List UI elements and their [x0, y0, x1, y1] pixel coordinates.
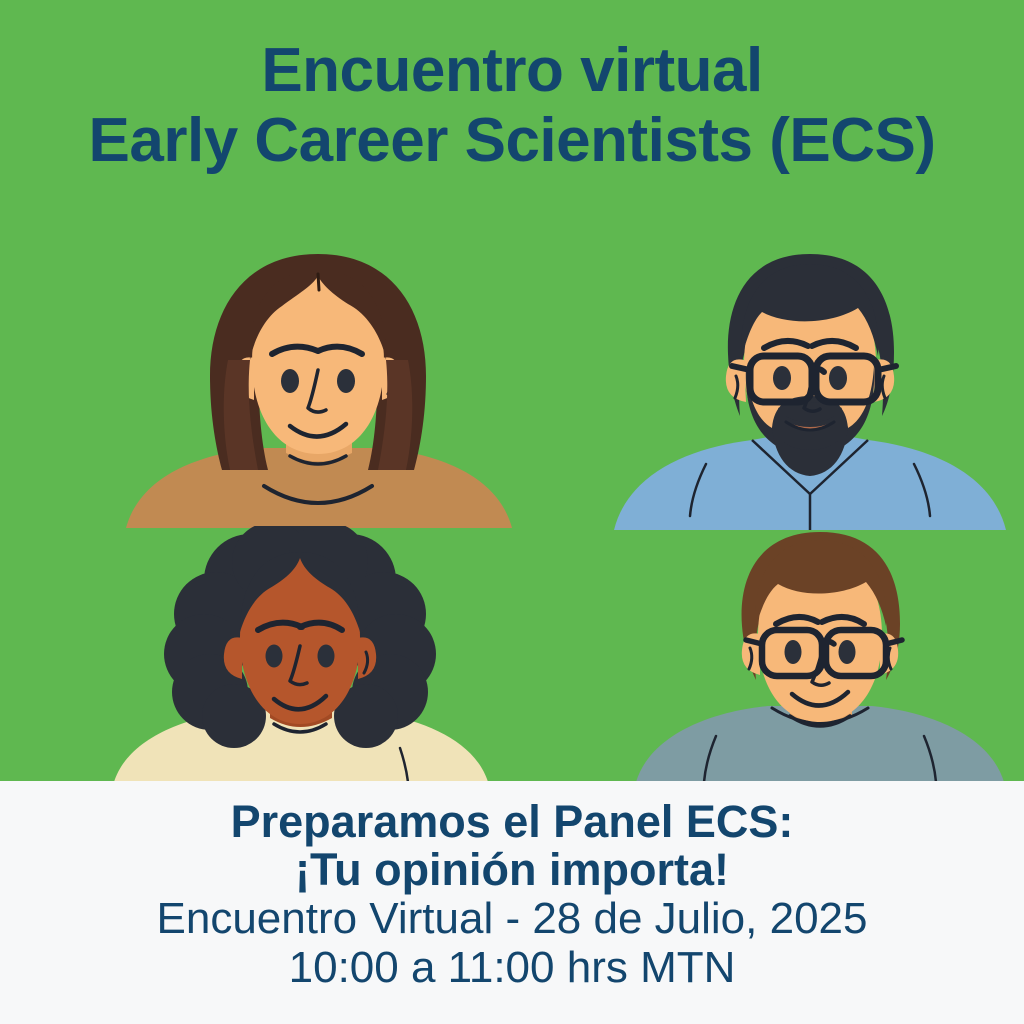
poster-details: Preparamos el Panel ECS: ¡Tu opinión imp… [0, 798, 1024, 992]
detail-line-1: Preparamos el Panel ECS: [0, 798, 1024, 846]
headline-line-2: Early Career Scientists (ECS) [0, 110, 1024, 172]
avatar-man-glasses [620, 526, 1020, 782]
avatar-woman-long-hair [118, 248, 518, 528]
detail-line-4: 10:00 a 11:00 hrs MTN [0, 943, 1024, 992]
headline-line-1: Encuentro virtual [0, 40, 1024, 110]
avatar-man-beard-glasses [610, 250, 1010, 530]
detail-line-3: Encuentro Virtual - 28 de Julio, 2025 [0, 893, 1024, 943]
poster-headline: Encuentro virtual Early Career Scientist… [0, 40, 1024, 172]
detail-line-2: ¡Tu opinión importa! [0, 846, 1024, 894]
event-poster: Encuentro virtual Early Career Scientist… [0, 0, 1024, 1024]
avatar-woman-curly-hair [100, 526, 500, 782]
